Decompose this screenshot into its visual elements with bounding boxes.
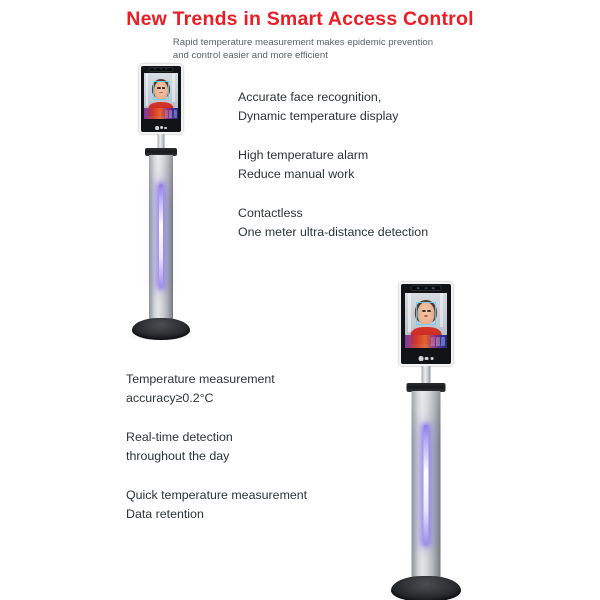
base-shadow xyxy=(384,592,468,600)
ir-sensor-icon xyxy=(424,287,427,289)
brand-logo xyxy=(418,355,435,361)
feature-line: High temperature alarm xyxy=(238,146,428,165)
feature-item: Quick temperature measurement Data reten… xyxy=(126,486,307,523)
feature-list-right: Accurate face recognition, Dynamic tempe… xyxy=(238,88,428,241)
feature-item: Temperature measurement accuracy≥0.2°C xyxy=(126,370,307,407)
logo-glyph-icon xyxy=(430,357,433,360)
camera-lens-icon xyxy=(417,287,420,289)
tablet-bezel xyxy=(141,66,181,133)
logo-glyph-icon xyxy=(155,126,159,130)
feature-line: Data retention xyxy=(126,505,307,524)
feature-line: Quick temperature measurement xyxy=(126,486,307,505)
thermal-readout-bar xyxy=(144,108,179,119)
logo-glyph-icon xyxy=(164,127,166,129)
thermal-cell xyxy=(165,110,168,118)
thermal-cell xyxy=(436,337,440,346)
camera-sensor-bar-icon xyxy=(148,67,173,72)
poster-canvas: New Trends in Smart Access Control Rapid… xyxy=(0,0,600,600)
thermal-sensor-icon xyxy=(431,287,434,289)
page-subtitle: Rapid temperature measurement makes epid… xyxy=(167,37,433,62)
feature-line: One meter ultra-distance detection xyxy=(238,223,428,242)
thermal-cell xyxy=(431,337,435,346)
kiosk-tablet-head xyxy=(139,64,183,134)
feature-list-bottom-left: Temperature measurement accuracy≥0.2°C R… xyxy=(126,370,307,523)
logo-glyph-icon xyxy=(160,126,164,129)
logo-glyph-icon xyxy=(424,357,428,361)
face-detection-box xyxy=(416,302,436,325)
kiosk-display-screen[interactable] xyxy=(405,293,448,348)
page-title: New Trends in Smart Access Control xyxy=(0,8,600,31)
header: New Trends in Smart Access Control Rapid… xyxy=(0,8,600,63)
face-detection-box xyxy=(153,81,169,100)
camera-lens-icon xyxy=(154,68,157,69)
brand-logo xyxy=(154,125,168,130)
kiosk-led-strip xyxy=(159,184,163,288)
feature-item: High temperature alarm Reduce manual wor… xyxy=(238,146,428,183)
kiosk-tablet-head xyxy=(399,282,453,366)
feature-line: Dynamic temperature display xyxy=(238,107,428,126)
kiosk-led-strip xyxy=(424,425,429,545)
subtitle-line-1: Rapid temperature measurement makes epid… xyxy=(173,37,433,50)
feature-item: Contactless One meter ultra-distance det… xyxy=(238,204,428,241)
feature-item: Real-time detection throughout the day xyxy=(126,428,307,465)
feature-line: Reduce manual work xyxy=(238,165,428,184)
thermal-cell xyxy=(441,337,445,346)
thermal-cell xyxy=(174,110,177,118)
feature-line: throughout the day xyxy=(126,447,307,466)
logo-glyph-icon xyxy=(419,356,423,361)
thermal-sensor-icon xyxy=(165,68,168,69)
base-shadow xyxy=(126,332,196,341)
face-recognition-temperature-kiosk-small xyxy=(125,64,197,336)
feature-line: Real-time detection xyxy=(126,428,307,447)
thermal-readout-bar xyxy=(405,335,448,348)
kiosk-display-screen[interactable] xyxy=(144,73,179,119)
camera-sensor-bar-icon xyxy=(411,285,442,291)
face-recognition-temperature-kiosk-large xyxy=(382,282,470,598)
tablet-bezel xyxy=(401,284,451,364)
feature-item: Accurate face recognition, Dynamic tempe… xyxy=(238,88,428,125)
feature-line: Accurate face recognition, xyxy=(238,88,428,107)
feature-line: accuracy≥0.2°C xyxy=(126,389,307,408)
subtitle-line-2: and control easier and more efficient xyxy=(173,50,433,63)
thermal-cell xyxy=(169,110,172,118)
ir-sensor-icon xyxy=(160,68,163,69)
feature-line: Contactless xyxy=(238,204,428,223)
feature-line: Temperature measurement xyxy=(126,370,307,389)
